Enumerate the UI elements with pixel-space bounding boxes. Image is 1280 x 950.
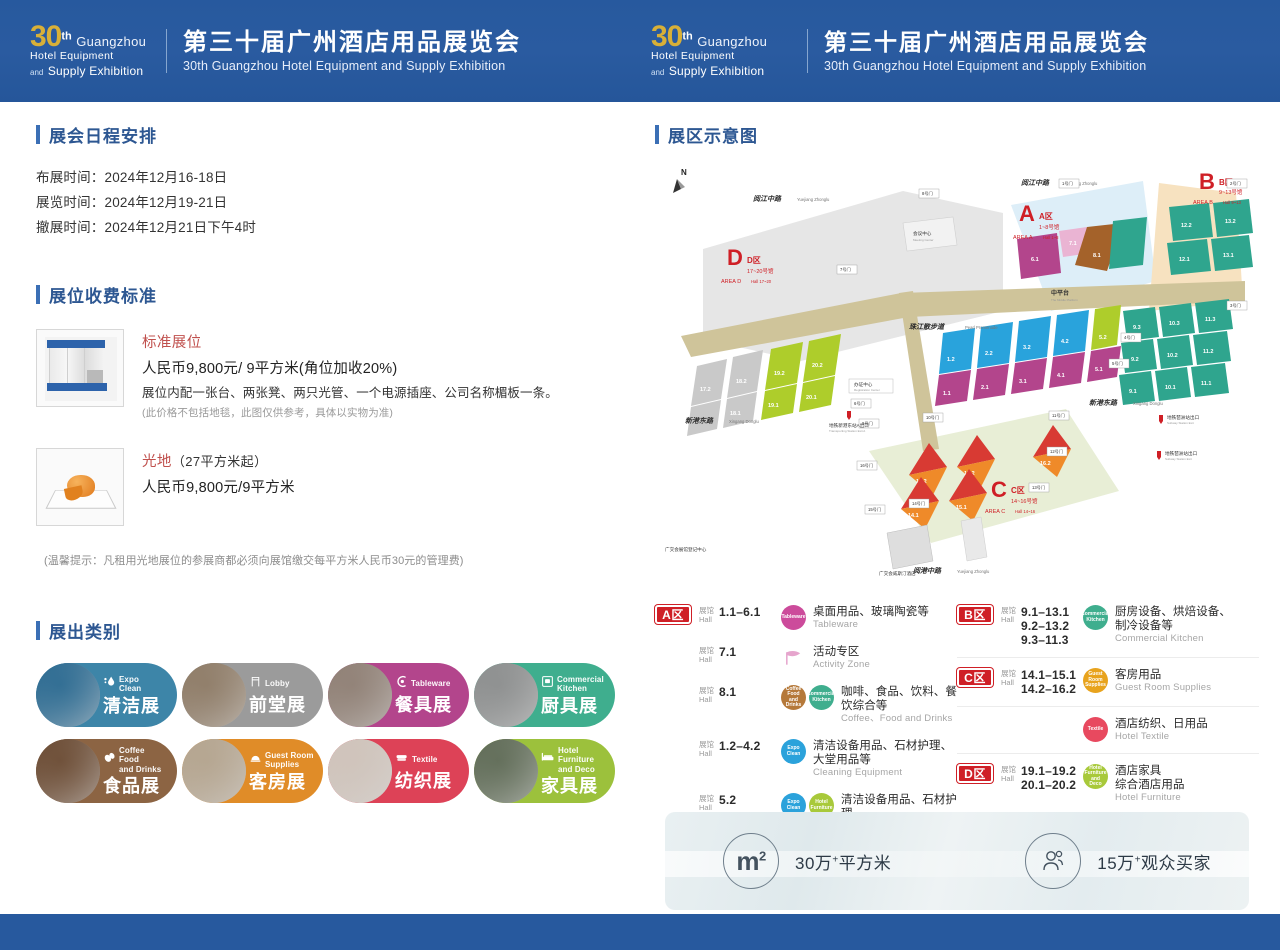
standard-booth-note: (此价格不包括地毯，此图仅供参考，具体以实物为准) [142, 405, 558, 420]
category-cn-label: 纺织展 [395, 771, 469, 791]
svg-text:AREA A: AREA A [1013, 235, 1033, 241]
svg-text:C区: C区 [1011, 486, 1025, 495]
svg-text:9~13号馆: 9~13号馆 [1219, 188, 1243, 196]
legend-description: 酒店家具综合酒店用品Hotel Furniture [1115, 764, 1185, 804]
category-card-食品展[interactable]: CoffeeFoodand Drinks食品展 [36, 739, 177, 803]
legend-category-icons: Textile [1083, 717, 1108, 742]
category-en-wrap: CommercialKitchen [541, 675, 615, 694]
heading-accent-bar [36, 125, 40, 144]
legend-hall-numbers: 5.2 [719, 793, 781, 807]
legend-row: Textile酒店纺织、日用品Hotel Textile [957, 710, 1259, 750]
map-registration-label: 广交会展馆登记中心 [665, 546, 707, 553]
category-cn-label: 厨具展 [541, 696, 615, 716]
svg-text:会议中心: 会议中心 [913, 230, 932, 237]
legend-hall-label: 展馆Hall [1001, 764, 1021, 783]
svg-text:Subway Station Exit: Subway Station Exit [1165, 457, 1192, 461]
category-card-餐具展[interactable]: Tableware餐具展 [328, 663, 469, 727]
category-cn-label: 家具展 [541, 776, 615, 796]
category-cn-label: 餐具展 [395, 695, 469, 715]
stat-area-text: 30万+平方米 [795, 849, 891, 874]
page-header: 30th Guangzhou Hotel Equipment and Suppl… [0, 0, 1280, 102]
legend-description: 客房用品Guest Room Supplies [1115, 668, 1211, 694]
raw-space-price: 人民币9,800元/9平方米 [142, 476, 295, 497]
category-en-label: Tableware [411, 679, 450, 689]
svg-text:11号门: 11号门 [1052, 412, 1065, 419]
svg-text:Subway Station Exit: Subway Station Exit [1167, 421, 1194, 425]
category-en-wrap: Tableware [395, 675, 469, 693]
category-labels: Tableware餐具展 [392, 675, 469, 715]
legend-hall-numbers: 1.1–6.1 [719, 605, 781, 619]
category-en-label: Textile [412, 755, 437, 765]
legend-hall-numbers: 8.1 [719, 685, 781, 699]
legend-area-badge: B区 [957, 605, 993, 624]
legend-icon-tableware: Tableware [781, 605, 806, 630]
raw-space-name: 光地 [142, 454, 172, 470]
legend-hall-label [1001, 717, 1021, 719]
legend-icon-commercial-kitchen: Commercial Kitchen [809, 685, 834, 710]
svg-text:12号门: 12号门 [1050, 448, 1063, 455]
legend-description: 清洁设备用品、石材护理、大堂用品等Cleaning Equipment [813, 739, 952, 779]
category-en-label: ExpoClean [119, 675, 141, 694]
svg-text:The Middle Platform: The Middle Platform [1051, 298, 1078, 302]
svg-text:11.2: 11.2 [1203, 349, 1213, 355]
category-labels: Guest RoomSupplies客房展 [246, 751, 323, 792]
category-photo [182, 739, 246, 803]
schedule-section: 展会日程安排 布展时间：2024年12月16-18日 展览时间：2024年12月… [36, 122, 626, 240]
coffee-bean-icon [103, 751, 116, 769]
svg-text:15.1: 15.1 [956, 505, 967, 511]
category-photo [36, 739, 100, 803]
map-middle-platform-label: 中平台 [1051, 289, 1069, 297]
header-divider-2 [807, 29, 808, 73]
svg-text:Yuejiang Zhonglu: Yuejiang Zhonglu [957, 569, 990, 574]
fee-item-raw-space: 光地（27平方米起） 人民币9,800元/9平方米 [36, 448, 626, 526]
svg-text:10.2: 10.2 [1167, 353, 1178, 359]
category-en-wrap: Lobby [249, 675, 323, 693]
category-cn-label: 客房展 [249, 772, 323, 792]
raw-space-name-wrap: 光地（27平方米起） [142, 450, 295, 471]
legend-row: B区展馆Hall9.1–13.19.2–13.29.3–11.3Commerci… [957, 598, 1259, 654]
booth-panel-line [84, 348, 85, 384]
svg-text:14~16号馆: 14~16号馆 [1011, 497, 1038, 505]
category-card-纺织展[interactable]: Textile纺织展 [328, 739, 469, 803]
legend-area-badge [655, 739, 691, 758]
category-en-wrap: CoffeeFoodand Drinks [103, 746, 177, 775]
svg-text:9.1: 9.1 [1129, 389, 1137, 395]
category-card-客房展[interactable]: Guest RoomSupplies客房展 [182, 739, 323, 803]
standard-booth-price: 人民币9,800元/ 9平方米(角位加收20%) [142, 357, 558, 378]
svg-text:11.3: 11.3 [1205, 317, 1215, 323]
svg-text:C: C [991, 477, 1007, 502]
logo-and-2: and [651, 68, 664, 77]
svg-text:17.2: 17.2 [700, 387, 711, 393]
category-cn-label: 食品展 [103, 776, 177, 796]
category-photo [328, 663, 392, 727]
legend-icon-flag [781, 645, 806, 670]
legend-area-badge [655, 793, 691, 812]
svg-text:Hall 1~8: Hall 1~8 [1043, 235, 1059, 240]
m2-symbol: m2 [736, 846, 765, 877]
svg-text:Xingang Donglu: Xingang Donglu [729, 419, 759, 424]
standard-booth-text: 标准展位 人民币9,800元/ 9平方米(角位加收20%) 展位内配一张台、两张… [142, 329, 558, 420]
kitchen-icon [541, 675, 554, 693]
left-column: 展会日程安排 布展时间：2024年12月16-18日 展览时间：2024年12月… [36, 122, 626, 803]
map-road-xingang-2: 新港东路 [1089, 398, 1118, 407]
svg-text:Hall 17~20: Hall 17~20 [751, 279, 772, 284]
svg-text:1~8号馆: 1~8号馆 [1039, 223, 1060, 231]
booth-desk-icon [87, 370, 103, 383]
header-unit-left: 30th Guangzhou Hotel Equipment and Suppl… [0, 22, 521, 80]
svg-text:13号门: 13号门 [1032, 484, 1045, 491]
svg-text:Tramsporting Station Exit A: Tramsporting Station Exit A [829, 429, 865, 433]
svg-text:18.2: 18.2 [736, 379, 747, 385]
categories-grid: ExpoClean清洁展Lobby前堂展Tableware餐具展Commerci… [36, 663, 626, 803]
svg-text:AREA D: AREA D [721, 279, 741, 285]
fees-tip: (温馨提示：凡租用光地展位的参展商都必须向展馆缴交每平方米人民币30元的管理费) [44, 552, 626, 568]
legend-separator [957, 753, 1259, 754]
legend-icon-coffee-food-and-drinks: Coffee Food and Drinks [781, 685, 806, 710]
svg-text:7.1: 7.1 [1069, 241, 1077, 247]
category-photo [474, 739, 538, 803]
sofa-icon [541, 751, 555, 769]
svg-text:Xingang Donglu: Xingang Donglu [1133, 401, 1163, 406]
legend-separator [957, 706, 1259, 707]
svg-text:5.2: 5.2 [1099, 335, 1107, 341]
fees-section: 展位收费标准 标准展位 人民币9,800元/ 9平方米(角位加收20%) 展位内 [36, 282, 626, 568]
svg-text:Registration Center: Registration Center [854, 388, 880, 392]
svg-text:Meeting Center: Meeting Center [913, 238, 934, 242]
svg-text:14.1: 14.1 [908, 513, 919, 519]
legend-description: 厨房设备、烘焙设备、制冷设备等Commercial Kitchen [1115, 605, 1231, 645]
svg-text:7号门: 7号门 [840, 266, 851, 273]
legend-icon-hotel-furniture-and-deco: Hotel Furniture and Deco [1083, 764, 1108, 789]
stat-area: m2 30万+平方米 [723, 833, 891, 889]
legend-icon-expo-clean: Expo Clean [781, 739, 806, 764]
svg-text:8号门: 8号门 [922, 190, 933, 197]
legend-hall-label: 展馆Hall [1001, 605, 1021, 624]
svg-text:10.1: 10.1 [1165, 385, 1176, 391]
raw-space-text: 光地（27平方米起） 人民币9,800元/9平方米 [142, 448, 295, 526]
svg-text:2.2: 2.2 [985, 351, 993, 357]
legend-area-badge [655, 685, 691, 704]
page-footer-bar [0, 914, 1280, 950]
svg-text:AREA B: AREA B [1193, 200, 1213, 206]
logo-edition-number: 30 [30, 22, 61, 52]
svg-text:5.1: 5.1 [1095, 367, 1103, 373]
legend-category-icons: Tableware [781, 605, 806, 630]
header-divider [166, 29, 167, 73]
legend-hall-numbers: 9.1–13.19.2–13.29.3–11.3 [1021, 605, 1083, 647]
legend-description: 咖啡、食品、饮料、餐饮综合等Coffee、Food and Drinks [841, 685, 957, 725]
svg-text:17~20号馆: 17~20号馆 [747, 267, 774, 275]
legend-hall-numbers: 19.1–19.220.1–20.2 [1021, 764, 1083, 792]
legend-row: A区展馆Hall1.1–6.1Tableware桌面用品、玻璃陶瓷等Tablew… [655, 598, 957, 638]
category-photo [328, 739, 392, 803]
map-building-westin [887, 525, 933, 569]
legend-row: 展馆Hall1.2–4.2Expo Clean清洁设备用品、石材护理、大堂用品等… [655, 732, 957, 786]
category-cn-label: 清洁展 [103, 696, 177, 716]
svg-text:5号门: 5号门 [1112, 360, 1123, 367]
stats-banner: m2 30万+平方米 15万+观众买家 [665, 812, 1249, 910]
svg-text:A区: A区 [1039, 212, 1053, 221]
legend-description: 酒店纺织、日用品Hotel Textile [1115, 717, 1208, 743]
header-titles-2: 第三十届广州酒店用品展览会 30th Guangzhou Hotel Equip… [824, 29, 1149, 72]
legend-hall-label: 展馆Hall [1001, 668, 1021, 687]
svg-text:Hall 14~16: Hall 14~16 [1015, 509, 1036, 514]
category-en-label: CommercialKitchen [557, 675, 604, 694]
svg-text:6号门: 6号门 [854, 400, 865, 407]
legend-hall-label: 展馆Hall [699, 793, 719, 812]
visitor-person-icon [1038, 846, 1068, 876]
category-card-家具展[interactable]: HotelFurnitureand Deco家具展 [474, 739, 615, 803]
header-title-cn: 第三十届广州酒店用品展览会 [183, 29, 521, 57]
categories-section: 展出类别 ExpoClean清洁展Lobby前堂展Tableware餐具展Com… [36, 618, 626, 803]
legend-description: 桌面用品、玻璃陶瓷等Tableware [813, 605, 929, 631]
svg-text:B: B [1199, 169, 1215, 194]
towel-icon [395, 751, 409, 769]
venue-map[interactable]: .hallT{font-family:"Liberation Sans",san… [651, 161, 1259, 581]
svg-text:19.2: 19.2 [774, 371, 785, 377]
map-westin-label: 广交会威斯汀酒店 [879, 570, 916, 577]
category-labels: CommercialKitchen厨具展 [538, 675, 615, 716]
logo-line2-2: Hotel Equipment [651, 50, 791, 62]
svg-text:12.2: 12.2 [1181, 223, 1192, 229]
svg-text:3.2: 3.2 [1023, 345, 1031, 351]
svg-text:Hall 9~13: Hall 9~13 [1223, 200, 1241, 205]
standard-booth-thumbnail [36, 329, 124, 407]
legend-icon-textile: Textile [1083, 717, 1108, 742]
category-labels: Textile纺织展 [392, 751, 469, 791]
stat-visitors-text: 15万+观众买家 [1097, 849, 1211, 874]
schedule-row-setup: 布展时间：2024年12月16-18日 [36, 165, 626, 190]
legend-row: 展馆Hall8.1Coffee Food and DrinksCommercia… [655, 678, 957, 732]
category-card-厨具展[interactable]: CommercialKitchen厨具展 [474, 663, 615, 727]
standard-booth-includes: 展位内配一张台、两张凳、两只光管、一个电源插座、公司名称楣板一条。 [142, 382, 558, 401]
category-labels: ExpoClean清洁展 [100, 675, 177, 716]
map-road-yuejiang-1: 阅江中路 [753, 194, 782, 203]
legend-icon-commercial-kitchen: Commercial Kitchen [1083, 605, 1108, 630]
legend-hall-numbers: 7.1 [719, 645, 781, 659]
map-road-yuejiang-3: 阅港中路 [913, 566, 942, 575]
category-cn-label: 前堂展 [249, 695, 323, 715]
legend-row: C区展馆Hall14.1–15.114.2–16.2Guest Room Sup… [957, 661, 1259, 703]
svg-text:2.1: 2.1 [981, 385, 989, 391]
schedule-heading: 展会日程安排 [36, 122, 626, 147]
booth-floor-icon [47, 383, 107, 391]
legend-area-badge: A区 [655, 605, 691, 624]
bell-icon [249, 751, 262, 769]
map-pearl-promenade-label: 珠江散步道 [909, 322, 946, 331]
header-title-cn-2: 第三十届广州酒店用品展览会 [824, 29, 1149, 55]
m2-icon: m2 [723, 833, 779, 889]
legend-area-badge: C区 [957, 668, 993, 687]
fee-item-standard-booth: 标准展位 人民币9,800元/ 9平方米(角位加收20%) 展位内配一张台、两张… [36, 329, 626, 420]
heading-accent-bar [36, 621, 40, 640]
svg-text:13.1: 13.1 [1223, 253, 1234, 259]
legend-area-badge [957, 717, 993, 736]
svg-text:D区: D区 [747, 256, 761, 265]
svg-text:10号门: 10号门 [926, 414, 939, 421]
map-road-yuejiang-2: 阅江中路 [1021, 178, 1050, 187]
category-en-label: CoffeeFoodand Drinks [119, 746, 161, 775]
category-labels: HotelFurnitureand Deco家具展 [538, 746, 615, 797]
legend-row: D区展馆Hall19.1–19.220.1–20.2Hotel Furnitur… [957, 757, 1259, 811]
logo-line3-2: Supply Exhibition [669, 64, 764, 78]
category-labels: Lobby前堂展 [246, 675, 323, 715]
logo-ordinal-suffix-2: th [682, 31, 692, 43]
svg-text:Yuejiang Zhonglu: Yuejiang Zhonglu [797, 197, 830, 202]
svg-text:20.1: 20.1 [806, 395, 817, 401]
header-title-en: 30th Guangzhou Hotel Equipment and Suppl… [183, 59, 521, 73]
svg-text:6.1: 6.1 [1031, 257, 1039, 263]
svg-text:办证中心: 办证中心 [854, 381, 873, 388]
schedule-list: 布展时间：2024年12月16-18日 展览时间：2024年12月19-21日 … [36, 165, 626, 240]
map-heading: 展区示意图 [655, 122, 1255, 147]
raw-space-min-area: （27平方米起） [172, 454, 268, 469]
categories-heading-label: 展出类别 [49, 618, 121, 643]
svg-text:13.2: 13.2 [1225, 219, 1236, 225]
svg-text:A: A [1019, 201, 1035, 226]
svg-text:地铁琶洲站出口: 地铁琶洲站出口 [1167, 414, 1200, 421]
legend-category-icons: Hotel Furniture and Deco [1083, 764, 1108, 789]
svg-text:10.3: 10.3 [1169, 321, 1180, 327]
category-photo [474, 663, 538, 727]
category-photo [36, 663, 100, 727]
legend-hall-label: 展馆Hall [699, 739, 719, 758]
svg-text:4.2: 4.2 [1061, 339, 1069, 345]
legend-hall-numbers: 14.1–15.114.2–16.2 [1021, 668, 1083, 696]
category-en-wrap: HotelFurnitureand Deco [541, 746, 615, 775]
visitor-icon [1025, 833, 1081, 889]
exhibition-logo: 30th Guangzhou Hotel Equipment and Suppl… [0, 22, 150, 80]
heading-accent-bar [36, 285, 40, 304]
svg-text:20.2: 20.2 [812, 363, 823, 369]
svg-text:4.1: 4.1 [1057, 373, 1065, 379]
legend-separator [957, 657, 1259, 658]
booth-panel-line [67, 348, 68, 384]
category-card-前堂展[interactable]: Lobby前堂展 [182, 663, 323, 727]
legend-icon-guest-room-supplies: Guest Room Supplies [1083, 668, 1108, 693]
category-en-wrap: ExpoClean [103, 675, 177, 694]
venue-map-svg[interactable]: .hallT{font-family:"Liberation Sans",san… [651, 161, 1259, 581]
svg-text:15号门: 15号门 [868, 506, 881, 513]
schedule-row-show: 展览时间：2024年12月19-21日 [36, 190, 626, 215]
luggage-cart-icon [249, 675, 262, 693]
svg-text:2号门: 2号门 [1230, 180, 1241, 187]
category-en-wrap: Guest RoomSupplies [249, 751, 323, 770]
raw-space-thumbnail [36, 448, 124, 526]
legend-hall-label: 展馆Hall [699, 645, 719, 664]
legend-hall-numbers: 1.2–4.2 [719, 739, 781, 753]
category-en-label: Guest RoomSupplies [265, 751, 314, 770]
schedule-row-teardown: 撤展时间：2024年12月21日下午4时 [36, 215, 626, 240]
logo-ordinal-suffix: th [61, 31, 71, 43]
svg-text:16号门: 16号门 [860, 462, 873, 469]
svg-text:Pearl Promenade: Pearl Promenade [965, 325, 998, 330]
legend-hall-label: 展馆Hall [699, 605, 719, 624]
category-card-清洁展[interactable]: ExpoClean清洁展 [36, 663, 177, 727]
right-column: 展区示意图 .hallT{font-family:"Liberation San… [655, 122, 1255, 581]
svg-text:1号门: 1号门 [1062, 180, 1073, 187]
droplet-icon [103, 675, 116, 693]
category-labels: CoffeeFoodand Drinks食品展 [100, 746, 177, 797]
categories-heading: 展出类别 [36, 618, 626, 643]
map-road-xingang-1: 新港东路 [685, 416, 714, 425]
legend-area-badge: D区 [957, 764, 993, 783]
booth-fascia-icon [47, 340, 105, 348]
map-heading-label: 展区示意图 [668, 122, 758, 147]
svg-text:1.1: 1.1 [943, 391, 951, 397]
logo-line3: Supply Exhibition [48, 64, 143, 78]
legend-category-icons [781, 645, 806, 670]
map-halls-b-lower: 9.3 10.3 11.3 9.2 10.2 11.2 9.1 10.1 11.… [1119, 299, 1233, 405]
svg-text:N: N [681, 168, 687, 177]
schedule-heading-label: 展会日程安排 [49, 122, 157, 147]
fees-heading: 展位收费标准 [36, 282, 626, 307]
exhibition-logo-secondary: 30th Guangzhou Hotel Equipment and Suppl… [651, 22, 791, 80]
svg-text:4号门: 4号门 [1124, 334, 1135, 341]
booth-panel-line [49, 348, 50, 384]
svg-text:11.1: 11.1 [1201, 381, 1211, 387]
logo-edition-number-2: 30 [651, 22, 682, 52]
page-body: 展会日程安排 布展时间：2024年12月16-18日 展览时间：2024年12月… [0, 102, 1280, 914]
logo-city-2: Guangzhou [697, 34, 767, 49]
legend-category-icons: Commercial Kitchen [1083, 605, 1108, 630]
svg-text:3.1: 3.1 [1019, 379, 1027, 385]
fees-heading-label: 展位收费标准 [49, 282, 157, 307]
category-en-wrap: Textile [395, 751, 469, 769]
plate-icon [395, 675, 408, 693]
svg-text:14号门: 14号门 [912, 500, 925, 507]
svg-text:18.1: 18.1 [730, 411, 741, 417]
legend-hall-label: 展馆Hall [699, 685, 719, 704]
svg-text:16.2: 16.2 [1040, 461, 1051, 467]
heading-accent-bar [655, 125, 659, 144]
category-en-label: HotelFurnitureand Deco [558, 746, 595, 775]
logo-city: Guangzhou [76, 34, 146, 49]
svg-text:9.2: 9.2 [1131, 357, 1139, 363]
svg-text:AREA C: AREA C [985, 509, 1005, 515]
legend-category-icons: Expo Clean [781, 739, 806, 764]
header-title-en-2: 30th Guangzhou Hotel Equipment and Suppl… [824, 59, 1149, 73]
header-titles: 第三十届广州酒店用品展览会 30th Guangzhou Hotel Equip… [183, 29, 521, 74]
legend-category-icons: Guest Room Supplies [1083, 668, 1108, 693]
header-unit-right: 30th Guangzhou Hotel Equipment and Suppl… [651, 22, 1149, 80]
svg-text:地铁新港东站A出口: 地铁新港东站A出口 [829, 422, 869, 429]
svg-text:12.1: 12.1 [1179, 257, 1190, 263]
category-en-label: Lobby [265, 679, 290, 689]
logo-and: and [30, 68, 43, 77]
legend-row: 展馆Hall7.1活动专区Activity Zone [655, 638, 957, 678]
legend-description: 活动专区Activity Zone [813, 645, 870, 671]
compass-icon: N [673, 168, 687, 193]
svg-text:地铁琶洲站出口: 地铁琶洲站出口 [1165, 450, 1198, 457]
legend-category-icons: Coffee Food and DrinksCommercial Kitchen [781, 685, 834, 710]
svg-text:3号门: 3号门 [1230, 302, 1241, 309]
svg-text:1.2: 1.2 [947, 357, 955, 363]
svg-text:D: D [727, 245, 743, 270]
standard-booth-name: 标准展位 [142, 331, 558, 352]
category-photo [182, 663, 246, 727]
svg-text:8.1: 8.1 [1093, 253, 1101, 259]
svg-text:19.1: 19.1 [768, 403, 779, 409]
legend-area-badge [655, 645, 691, 664]
stat-visitors: 15万+观众买家 [1025, 833, 1211, 889]
svg-text:9.3: 9.3 [1133, 325, 1141, 331]
